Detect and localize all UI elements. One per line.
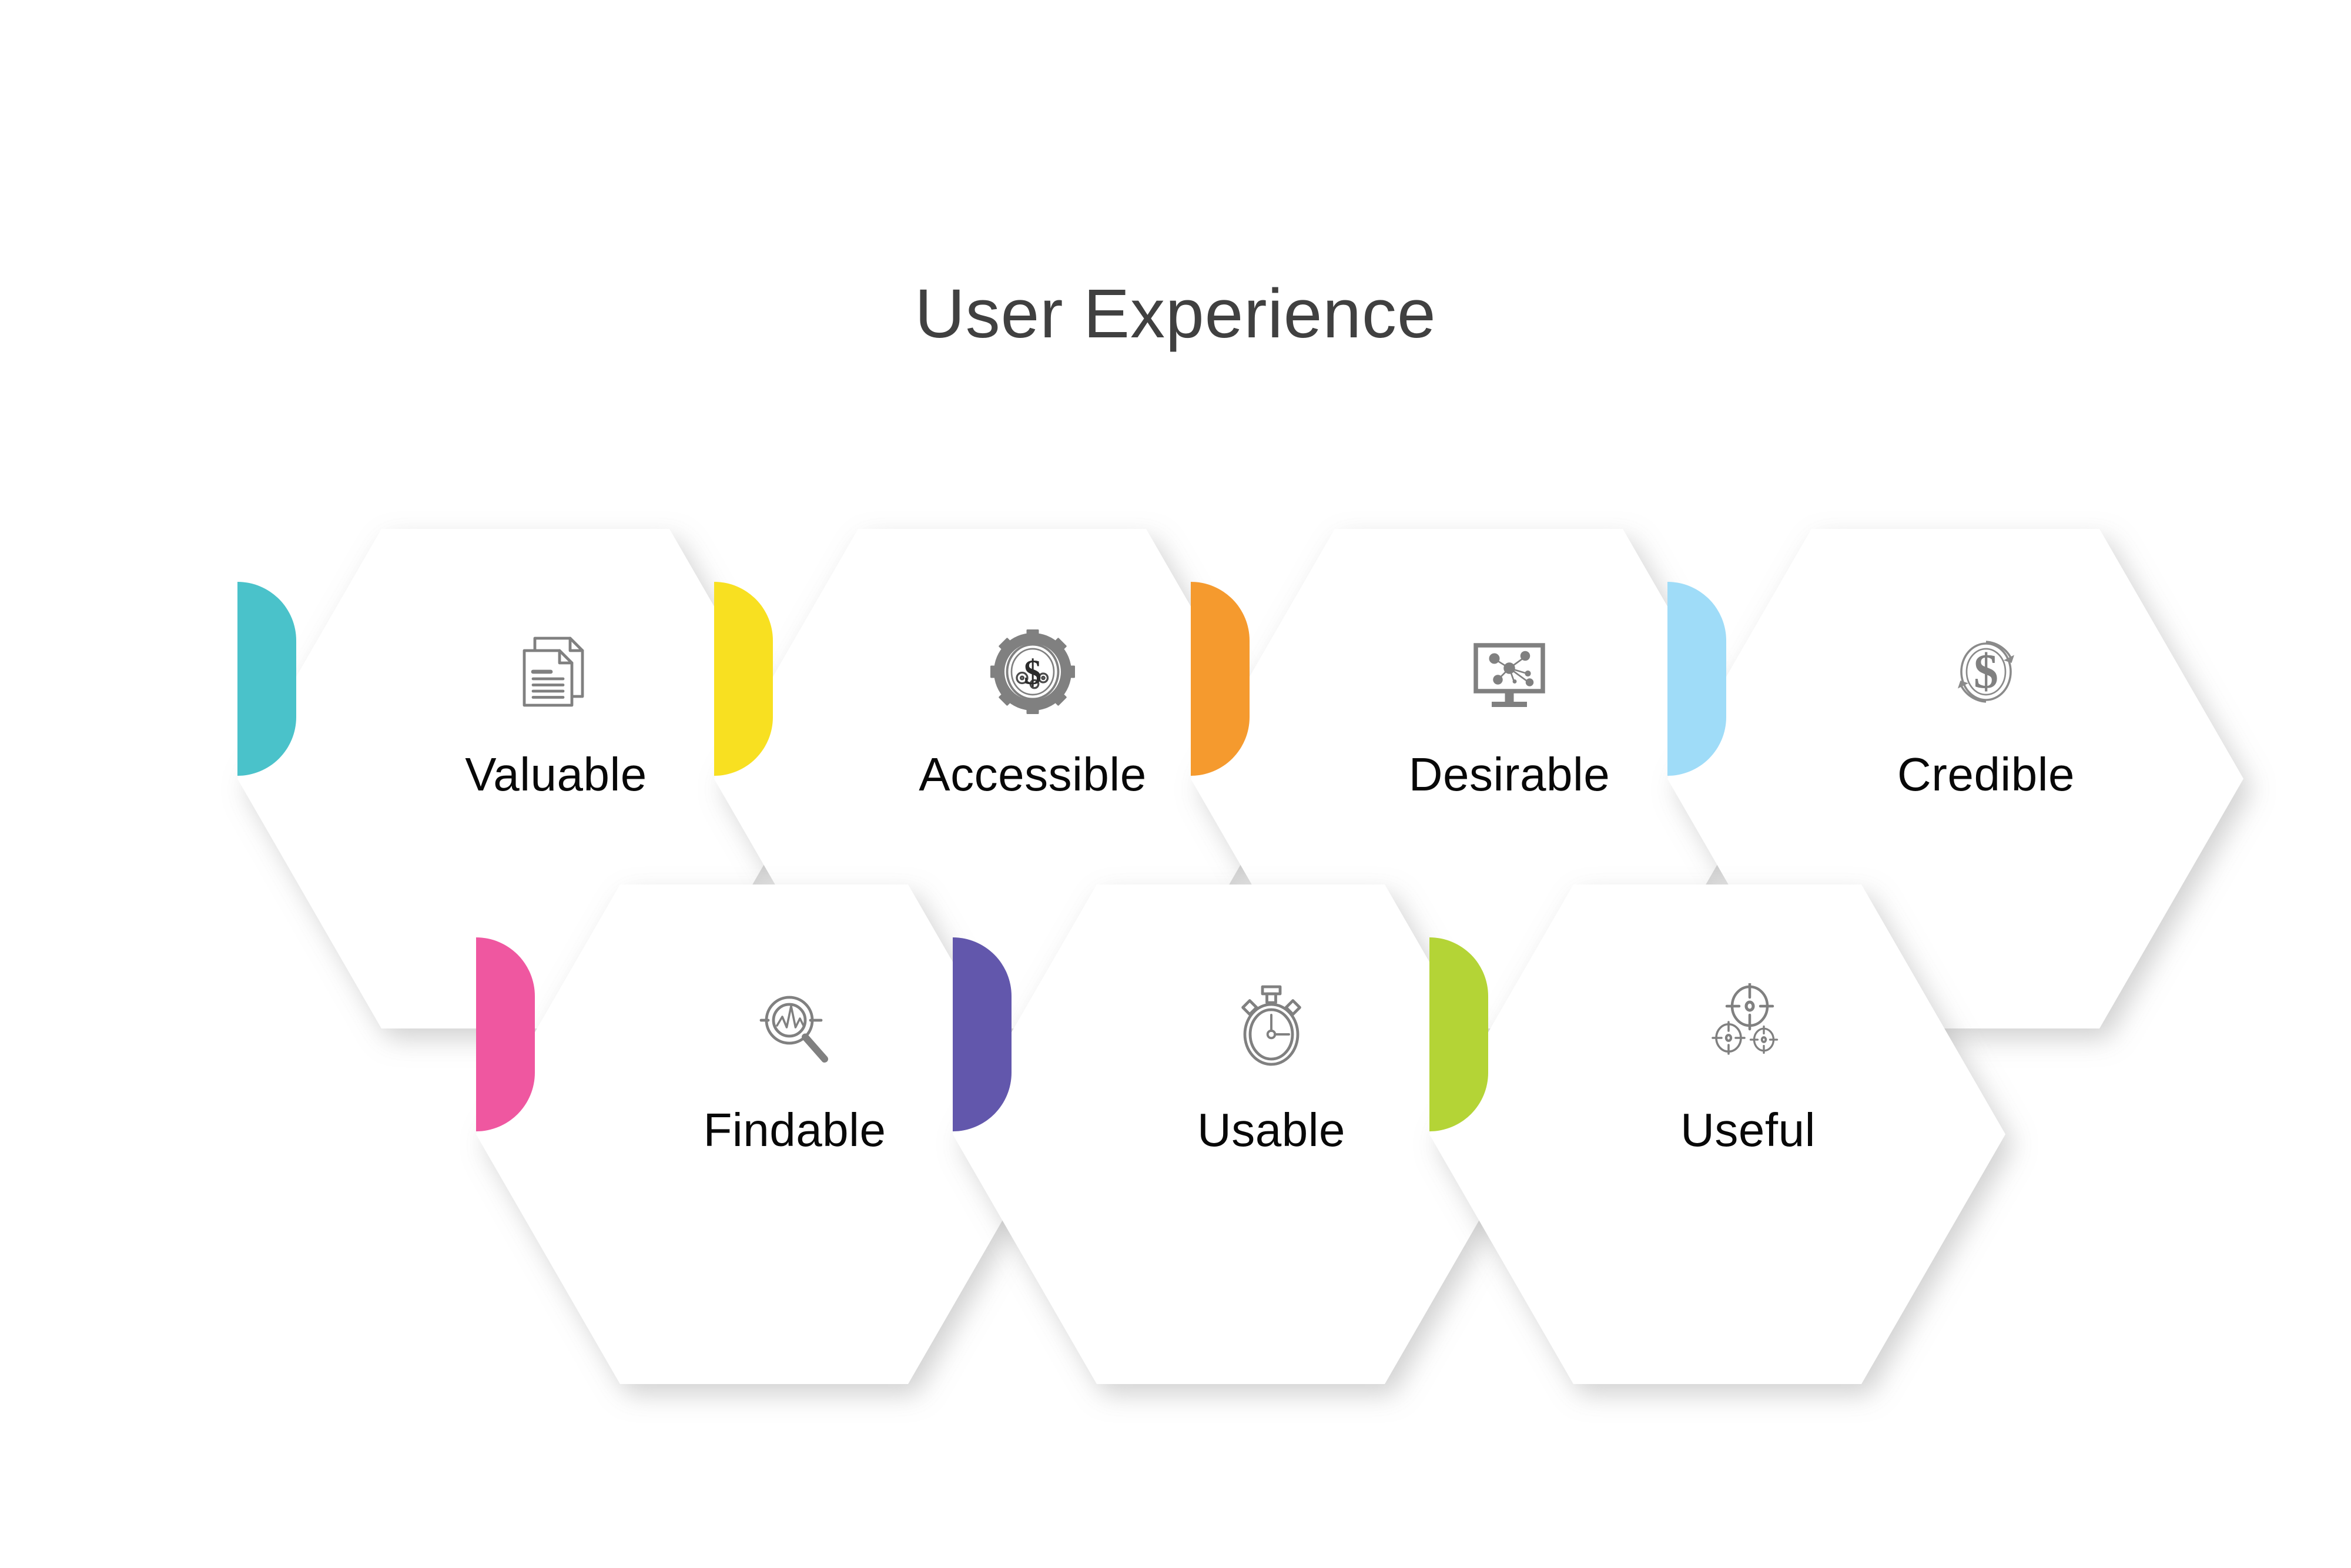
hexagon-shape-useful xyxy=(1429,884,2005,1384)
accent-tab-desirable xyxy=(1191,582,1250,776)
page-title: User Experience xyxy=(0,276,2351,353)
accent-tab-usable xyxy=(953,937,1012,1131)
accent-tab-useful xyxy=(1429,937,1488,1131)
hex-cell-useful[interactable]: Useful xyxy=(1429,884,2005,1384)
accent-tab-accessible xyxy=(714,582,773,776)
accent-tab-credible xyxy=(1667,582,1726,776)
infographic-canvas: User Experience xyxy=(0,0,2351,1568)
accent-tab-valuable xyxy=(237,582,296,776)
accent-tab-findable xyxy=(476,937,535,1131)
